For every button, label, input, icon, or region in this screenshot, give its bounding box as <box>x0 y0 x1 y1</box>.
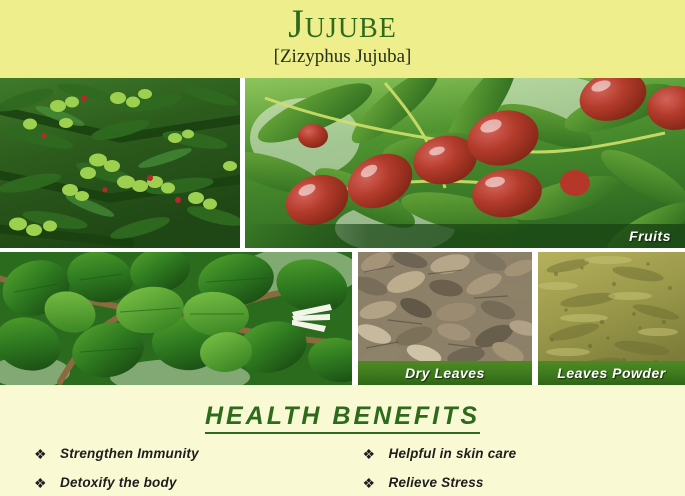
diamond-bullet-icon: ❖ <box>34 476 60 490</box>
benefit-label: Detoxify the body <box>60 475 177 490</box>
header-banner: Jujube [Zizyphus Jujuba] <box>0 0 685 78</box>
list-item: ❖ Relieve Stress <box>363 468 685 496</box>
photo-caption-dry-leaves: Dry Leaves <box>358 361 532 385</box>
benefits-heading-text: HEALTH BENEFITS <box>205 402 480 434</box>
benefit-label: Relieve Stress <box>389 475 484 490</box>
fresh-green-leaves-image <box>0 252 352 385</box>
photo-leaves-powder: Leaves Powder <box>538 252 685 385</box>
diamond-bullet-icon: ❖ <box>34 447 60 461</box>
benefit-label: Strengthen Immunity <box>60 446 199 461</box>
benefits-list: ❖ Strengthen Immunity ❖ Detoxify the bod… <box>0 439 685 496</box>
photo-ripe-red-fruits: Fruits <box>245 78 685 248</box>
photo-caption-leaves-powder: Leaves Powder <box>538 361 685 385</box>
page-title: Jujube <box>0 0 685 44</box>
photo-fresh-green-leaves <box>0 252 352 385</box>
benefits-column-left: ❖ Strengthen Immunity ❖ Detoxify the bod… <box>0 439 343 496</box>
health-benefits-section: HEALTH BENEFITS ❖ Strengthen Immunity ❖ … <box>0 385 685 496</box>
benefits-column-right: ❖ Helpful in skin care ❖ Relieve Stress <box>343 439 685 496</box>
list-item: ❖ Helpful in skin care <box>363 439 685 468</box>
diamond-bullet-icon: ❖ <box>363 476 389 490</box>
photo-tree-with-green-fruits <box>0 78 240 248</box>
ripe-red-fruits-image <box>245 78 685 248</box>
list-item: ❖ Detoxify the body <box>34 468 343 496</box>
photo-grid: Fruits <box>0 78 685 385</box>
list-item: ❖ Strengthen Immunity <box>34 439 343 468</box>
diamond-bullet-icon: ❖ <box>363 447 389 461</box>
photo-caption-fruits: Fruits <box>245 224 685 248</box>
scientific-name: [Zizyphus Jujuba] <box>0 46 685 68</box>
photo-dry-leaves: Dry Leaves <box>358 252 532 385</box>
benefits-heading: HEALTH BENEFITS <box>0 385 685 430</box>
benefit-label: Helpful in skin care <box>389 446 517 461</box>
tree-with-green-fruits-image <box>0 78 240 248</box>
jujube-infographic: Jujube [Zizyphus Jujuba] <box>0 0 685 496</box>
